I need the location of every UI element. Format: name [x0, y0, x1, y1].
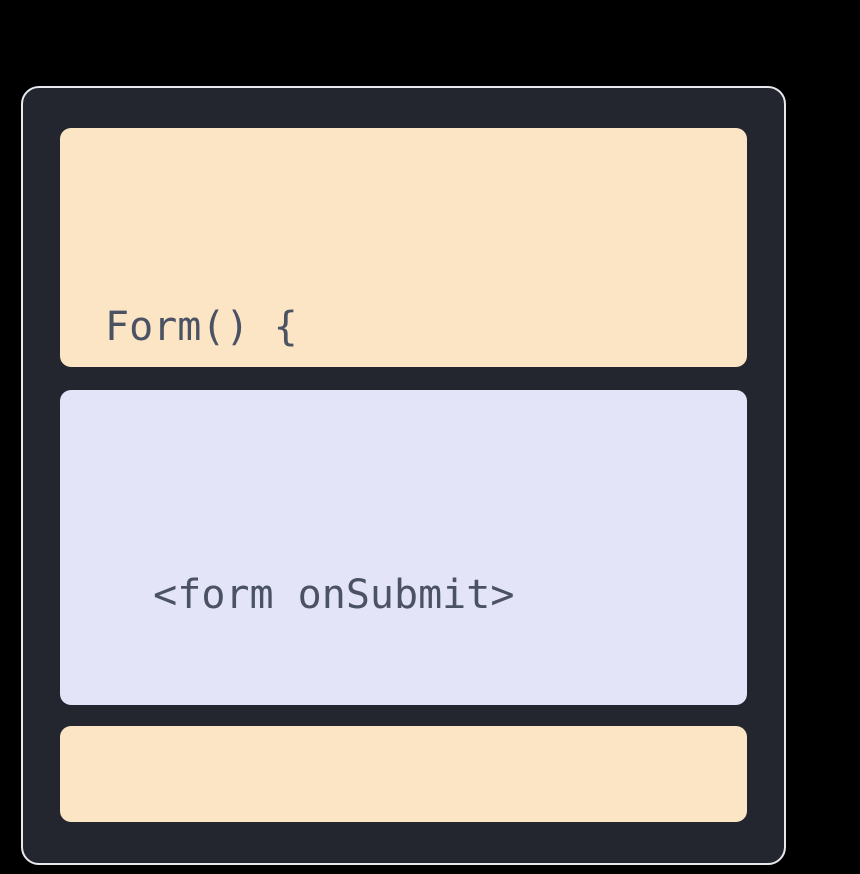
- code-panel-markup: <form onSubmit> <input onClick /> <input…: [60, 390, 747, 705]
- code-line: Form() {: [60, 290, 747, 364]
- code-line: <form onSubmit>: [60, 558, 747, 632]
- code-panel-component-head: Form() { onClick() {...} onSubmit() {...…: [60, 128, 747, 367]
- code-panel-component-tail: }: [60, 726, 747, 822]
- illustration-canvas: Form() { onClick() {...} onSubmit() {...…: [0, 0, 860, 874]
- code-window: Form() { onClick() {...} onSubmit() {...…: [21, 86, 786, 865]
- code-panel-stack: Form() { onClick() {...} onSubmit() {...…: [60, 128, 747, 822]
